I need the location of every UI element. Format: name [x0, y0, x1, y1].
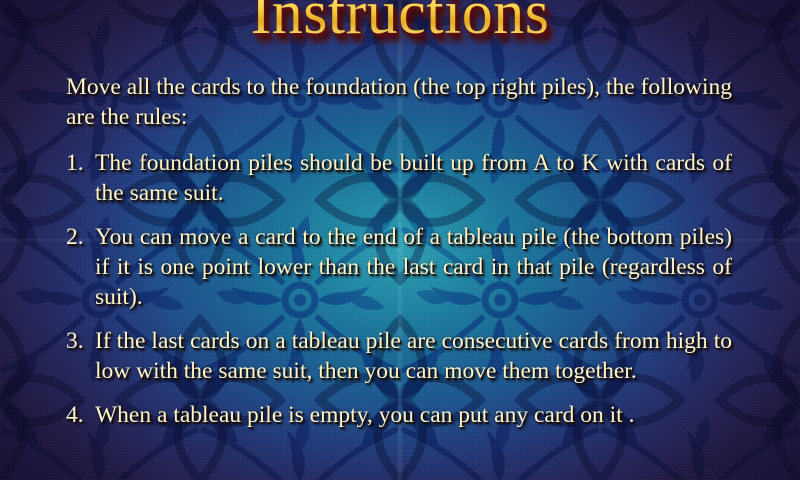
- rule-text: If the last cards on a tableau pile are …: [95, 328, 732, 384]
- rule-item-2: You can move a card to the end of a tabl…: [66, 222, 732, 312]
- rule-text: You can move a card to the end of a tabl…: [95, 224, 732, 310]
- rule-item-4: When a tableau pile is empty, you can pu…: [66, 400, 732, 430]
- intro-paragraph: Move all the cards to the foundation (th…: [66, 72, 732, 132]
- rule-item-1: The foundation piles should be built up …: [66, 148, 732, 208]
- rule-text: The foundation piles should be built up …: [95, 150, 732, 206]
- instructions-body: Move all the cards to the foundation (th…: [66, 72, 732, 430]
- rule-item-3: If the last cards on a tableau pile are …: [66, 326, 732, 386]
- rules-list: The foundation piles should be built up …: [66, 148, 732, 430]
- instructions-screen: Instructions Move all the cards to the f…: [0, 0, 800, 480]
- page-title: Instructions: [0, 0, 800, 44]
- instructions-content: Instructions Move all the cards to the f…: [0, 0, 800, 480]
- rule-text: When a tableau pile is empty, you can pu…: [95, 402, 634, 428]
